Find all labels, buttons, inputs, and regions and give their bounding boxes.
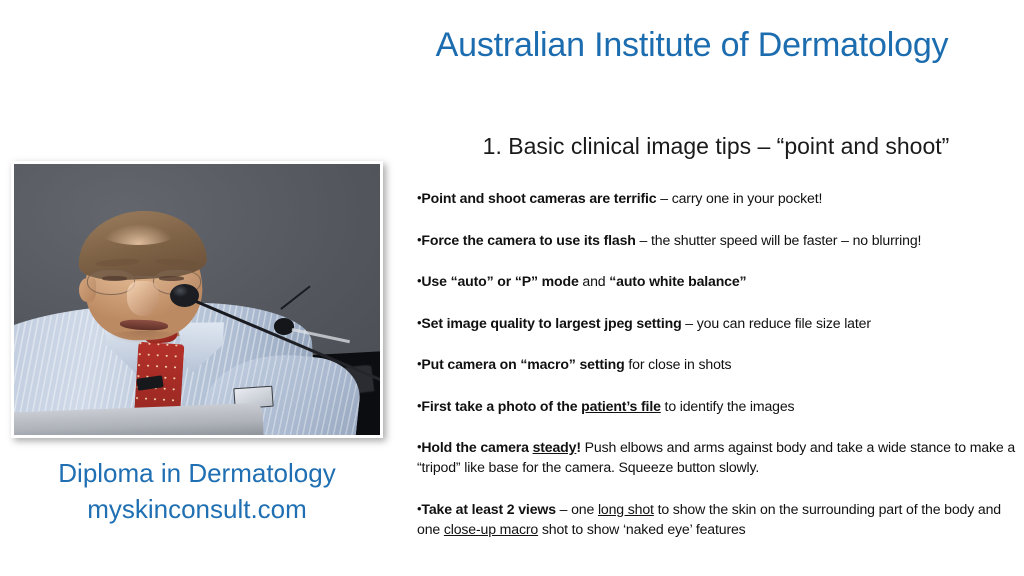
list-item-text: – the shutter speed will be faster – no … (636, 232, 922, 248)
course-caption: Diploma in Dermatology myskinconsult.com (0, 455, 394, 527)
list-item-text: Set image quality to largest jpeg settin… (421, 315, 681, 331)
list-item-text: First take a photo of the (421, 398, 581, 414)
video-still-image (14, 164, 380, 435)
list-item: •Point and shoot cameras are terrific – … (417, 188, 1017, 208)
list-item-text: “auto white balance” (609, 273, 746, 289)
list-item-text: close-up macro (444, 521, 538, 537)
section-heading: 1. Basic clinical image tips – “point an… (418, 133, 1014, 160)
page-title: Australian Institute of Dermatology (372, 26, 1012, 65)
list-item: •Hold the camera steady! Push elbows and… (417, 437, 1017, 477)
list-item-text: steady (533, 439, 577, 455)
list-item-text: Put camera on “macro” setting (421, 356, 624, 372)
list-item: •Put camera on “macro” setting for close… (417, 354, 1017, 374)
presenter-video-still (11, 161, 383, 438)
list-item-text: Point and shoot cameras are terrific (421, 190, 656, 206)
slide-canvas: Australian Institute of Dermatology (0, 0, 1024, 576)
list-item: •Set image quality to largest jpeg setti… (417, 313, 1017, 333)
caption-line-website: myskinconsult.com (0, 491, 394, 527)
presenter-chin-shadow (106, 331, 183, 345)
list-item: •Take at least 2 views – one long shot t… (417, 499, 1017, 539)
caption-line-course: Diploma in Dermatology (0, 455, 394, 491)
tips-bullet-list: •Point and shoot cameras are terrific – … (417, 188, 1017, 539)
list-item-text: – one (556, 501, 598, 517)
list-item: •First take a photo of the patient’s fil… (417, 396, 1017, 416)
list-item: •Force the camera to use its flash – the… (417, 230, 1017, 250)
presenter-nose (127, 281, 158, 316)
eyeglass-bridge (133, 276, 156, 277)
list-item-text: to identify the images (661, 398, 795, 414)
list-item-text: Take at least 2 views (421, 501, 555, 517)
list-item-text: Hold the camera (421, 439, 532, 455)
presenter-forehead-highlight (98, 215, 179, 245)
list-item-text: – you can reduce file size later (682, 315, 871, 331)
list-item-text: long shot (598, 501, 654, 517)
list-item-text: patient’s file (581, 398, 661, 414)
list-item: •Use “auto” or “P” mode and “auto white … (417, 271, 1017, 291)
microphone-clamp (274, 318, 294, 334)
list-item-text: shot to show ‘naked eye’ features (538, 521, 745, 537)
list-item-text: Force the camera to use its flash (421, 232, 635, 248)
list-item-text: and (579, 273, 610, 289)
list-item-text: – carry one in your pocket! (656, 190, 822, 206)
microphone-head-icon (170, 284, 199, 307)
list-item-text: for close in shots (625, 356, 732, 372)
list-item-text: Use “auto” or “P” mode (421, 273, 578, 289)
